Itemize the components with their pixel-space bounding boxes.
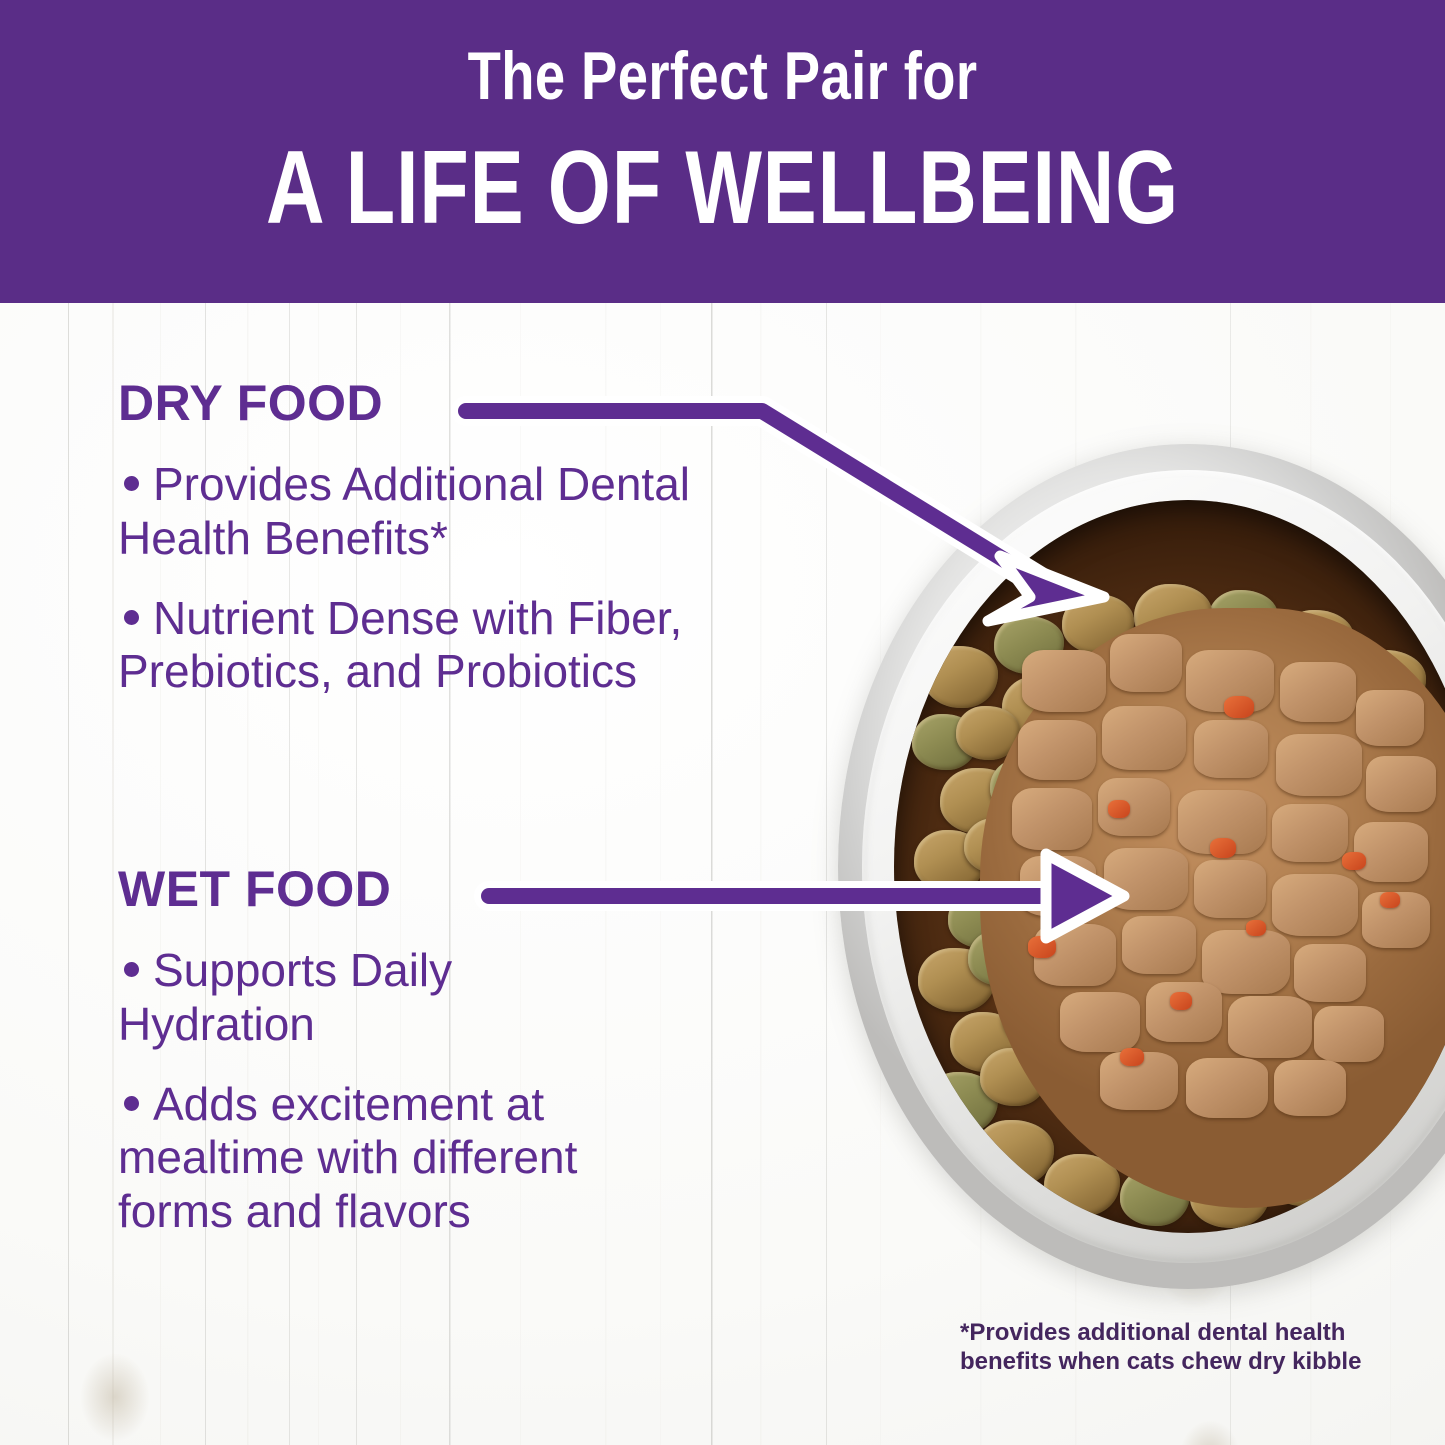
bowl-interior: [894, 500, 1445, 1233]
wet-food-heading: WET FOOD: [118, 864, 818, 914]
list-item: Adds excitement at mealtime with differe…: [118, 1078, 658, 1239]
food-bowl-image: [838, 444, 1445, 1289]
list-item: Provides Additional Dental Health Benefi…: [118, 458, 758, 566]
wet-food-section: WET FOOD Supports Daily Hydration Adds e…: [118, 864, 818, 1265]
bullet-dot-icon: [124, 1096, 139, 1111]
wood-knot: [80, 1352, 150, 1442]
header-banner: The Perfect Pair for A LIFE OF WELLBEING: [0, 0, 1445, 303]
list-item: Supports Daily Hydration: [118, 944, 638, 1052]
bullet-text: Provides Additional Dental Health Benefi…: [118, 458, 690, 564]
bullet-dot-icon: [124, 610, 139, 625]
bullet-dot-icon: [124, 476, 139, 491]
bullet-text: Nutrient Dense with Fiber, Prebiotics, a…: [118, 592, 682, 698]
bullet-text: Adds excitement at mealtime with differe…: [118, 1078, 577, 1238]
dry-food-section: DRY FOOD Provides Additional Dental Heal…: [118, 378, 818, 725]
wet-food-bullet-list: Supports Daily Hydration Adds excitement…: [118, 944, 818, 1239]
dry-food-heading: DRY FOOD: [118, 378, 818, 428]
footnote-text: *Provides additional dental health benef…: [960, 1318, 1380, 1377]
banner-subtitle: The Perfect Pair for: [145, 42, 1301, 110]
banner-title: A LIFE OF WELLBEING: [159, 136, 1286, 240]
bullet-text: Supports Daily Hydration: [118, 944, 452, 1050]
promo-infographic: The Perfect Pair for A LIFE OF WELLBEING: [0, 0, 1445, 1445]
list-item: Nutrient Dense with Fiber, Prebiotics, a…: [118, 592, 758, 700]
bullet-dot-icon: [124, 962, 139, 977]
dry-food-bullet-list: Provides Additional Dental Health Benefi…: [118, 458, 818, 699]
